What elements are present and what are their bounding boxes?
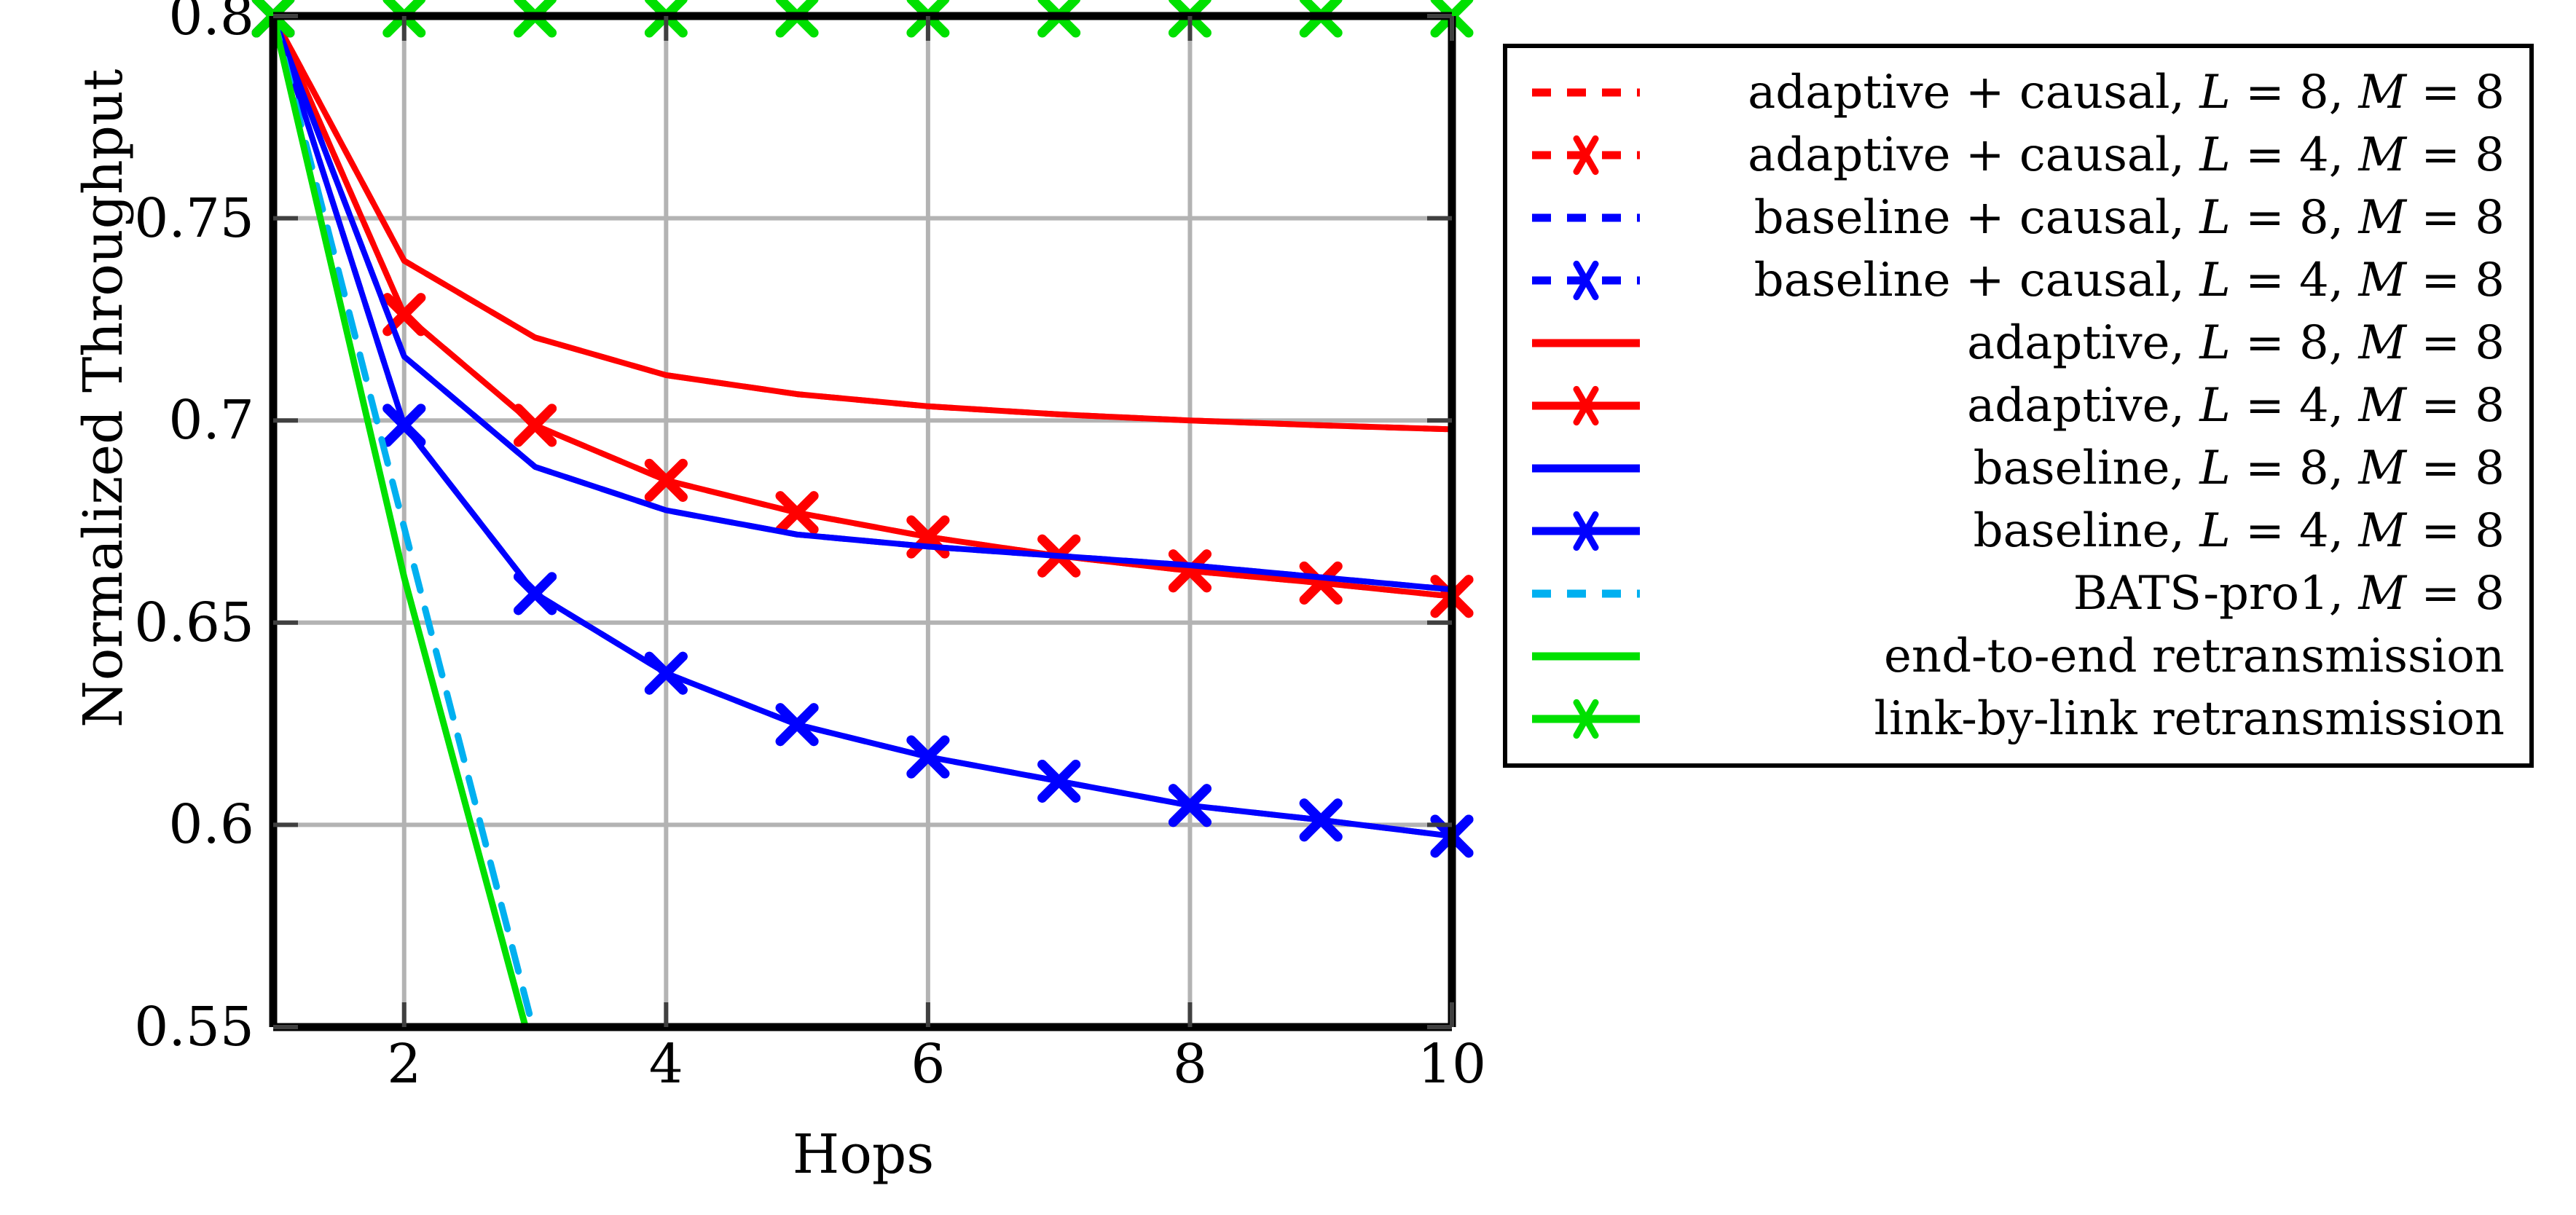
series-line [273, 16, 525, 1027]
legend-item-label: baseline, L = 4, M = 8 [1652, 508, 2512, 554]
axis-frame [273, 16, 1452, 1027]
series-1 [256, 0, 1469, 613]
legend-item[interactable]: link-by-link retransmission [1520, 688, 2512, 750]
data-series-layer [256, 0, 1469, 1027]
series-6 [273, 16, 1452, 589]
legend-line-sample-icon [1520, 374, 1652, 437]
series-line [273, 16, 1452, 429]
legend-item[interactable]: baseline + causal, L = 4, M = 8 [1520, 249, 2512, 312]
chart-figure: Normalized Throughput Hops 0.80.750.70.6… [0, 0, 2576, 1215]
legend-item[interactable]: adaptive, L = 4, M = 8 [1520, 374, 2512, 437]
legend-line-sample-icon [1520, 500, 1652, 562]
legend-line-sample-icon [1520, 562, 1652, 625]
series-line [273, 16, 1452, 597]
legend-item[interactable]: baseline, L = 8, M = 8 [1520, 437, 2512, 500]
series-2 [273, 16, 1452, 589]
legend-line-sample-icon [1520, 688, 1652, 750]
legend-line-sample-icon [1520, 249, 1652, 312]
legend-line-sample-icon [1520, 186, 1652, 249]
series-line [273, 16, 1452, 597]
data-point-marker [519, 409, 552, 442]
legend-item-label: adaptive + causal, L = 4, M = 8 [1652, 132, 2512, 178]
series-5 [256, 0, 1469, 613]
legend-item[interactable]: BATS-pro1, M = 8 [1520, 562, 2512, 625]
legend-line-sample-icon [1520, 61, 1652, 124]
legend-item-label: adaptive, L = 8, M = 8 [1652, 320, 2512, 366]
legend-box: adaptive + causal, L = 8, M = 8adaptive … [1503, 44, 2534, 768]
legend-item-label: adaptive, L = 4, M = 8 [1652, 382, 2512, 429]
legend-item[interactable]: baseline + causal, L = 8, M = 8 [1520, 186, 2512, 249]
legend-item-label: BATS-pro1, M = 8 [1652, 570, 2512, 617]
legend-item[interactable]: adaptive + causal, L = 8, M = 8 [1520, 61, 2512, 124]
legend-item[interactable]: adaptive, L = 8, M = 8 [1520, 312, 2512, 374]
legend-item-label: baseline, L = 8, M = 8 [1652, 445, 2512, 492]
legend-item[interactable]: end-to-end retransmission [1520, 625, 2512, 688]
legend-item-label: end-to-end retransmission [1652, 633, 2512, 680]
legend-item-label: baseline + causal, L = 8, M = 8 [1652, 194, 2512, 241]
legend-line-sample-icon [1520, 124, 1652, 186]
legend-item-label: adaptive + causal, L = 8, M = 8 [1652, 69, 2512, 116]
legend-line-sample-icon [1520, 312, 1652, 374]
series-0 [273, 16, 1452, 429]
legend-item[interactable]: baseline, L = 4, M = 8 [1520, 500, 2512, 562]
legend-line-sample-icon [1520, 437, 1652, 500]
data-point-marker [519, 577, 552, 610]
grid-lines [273, 16, 1452, 1027]
legend-item-label: link-by-link retransmission [1652, 696, 2512, 742]
series-line [273, 16, 1452, 429]
series-line [273, 16, 1452, 589]
legend-line-sample-icon [1520, 625, 1652, 688]
legend-item-label: baseline + causal, L = 4, M = 8 [1652, 257, 2512, 304]
series-line [273, 16, 1452, 589]
legend-item[interactable]: adaptive + causal, L = 4, M = 8 [1520, 124, 2512, 186]
series-9 [273, 16, 525, 1027]
series-4 [273, 16, 1452, 429]
